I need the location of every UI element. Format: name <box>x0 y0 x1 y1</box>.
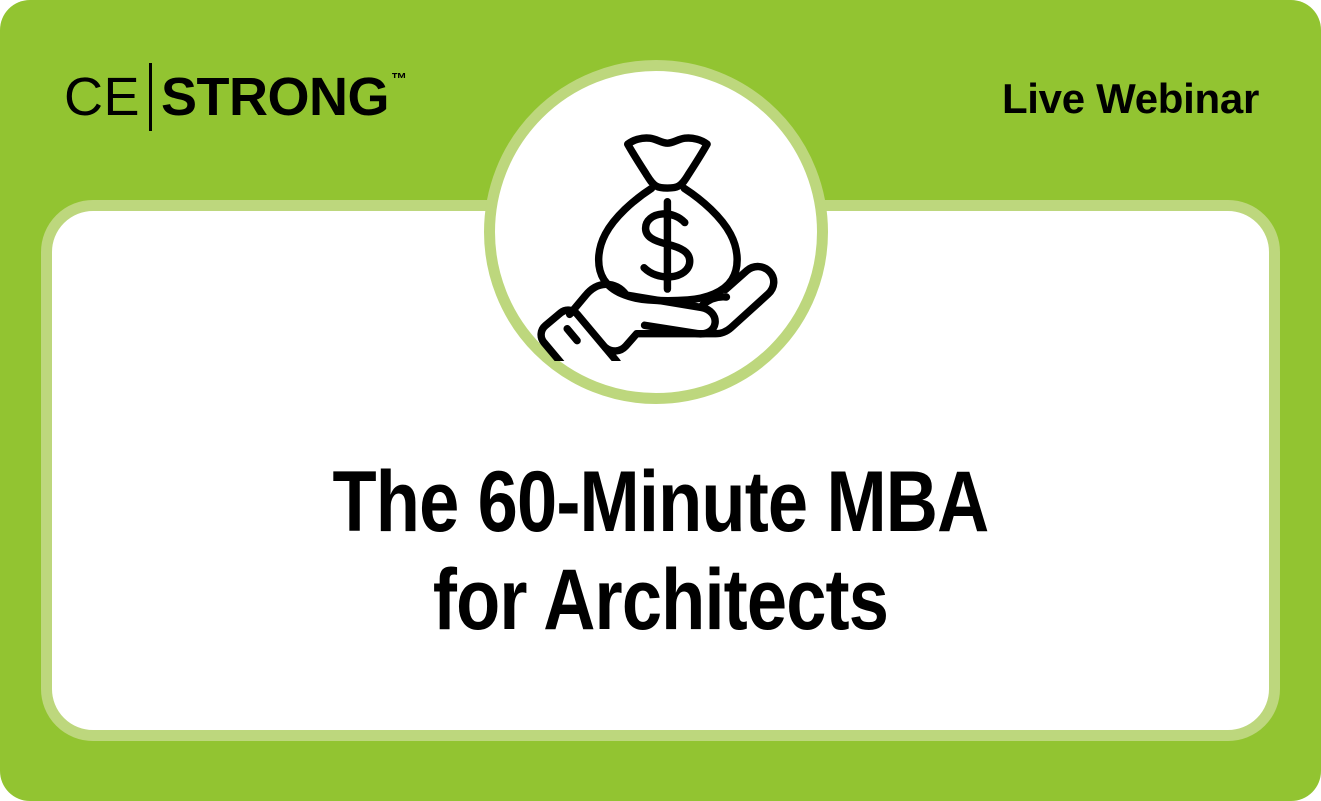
hand-holding-money-bag-icon <box>527 103 785 361</box>
logo-divider <box>149 63 152 131</box>
ce-strong-logo[interactable]: CE STRONG ™ <box>64 70 407 131</box>
trademark-symbol: ™ <box>391 72 407 88</box>
logo-text-ce: CE <box>64 70 140 124</box>
icon-badge <box>484 60 828 404</box>
page-title-line-2: for Architects <box>149 551 1171 649</box>
live-webinar-label: Live Webinar <box>1002 78 1259 120</box>
logo-text-strong: STRONG <box>161 70 389 124</box>
page-title-line-1: The 60-Minute MBA <box>149 453 1171 551</box>
webinar-promo-banner: CE STRONG ™ Live Webinar The 60-Minute M… <box>0 0 1321 801</box>
page-title: The 60-Minute MBA for Architects <box>149 453 1171 649</box>
